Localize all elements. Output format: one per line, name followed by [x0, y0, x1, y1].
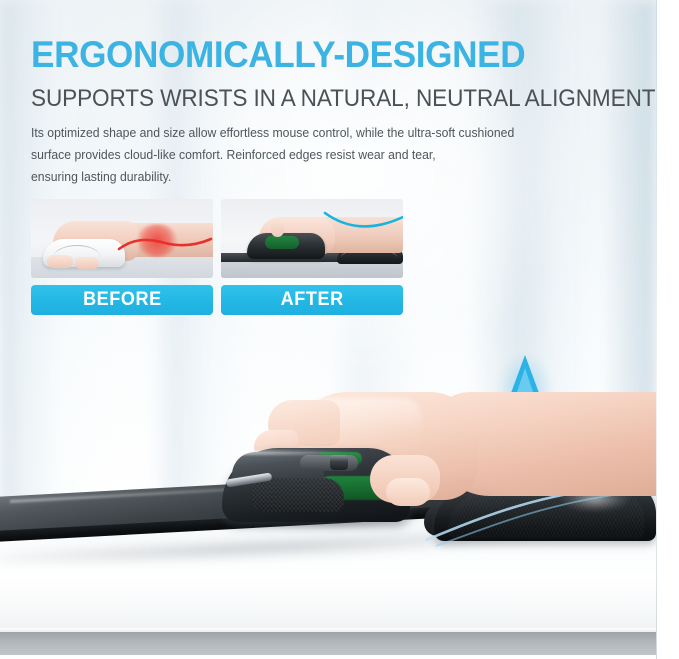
body-line-2: surface provides cloud-like comfort. Rei…	[31, 144, 574, 166]
right-white-margin	[656, 0, 679, 659]
right-border-line	[656, 0, 657, 659]
after-label-bar: AFTER	[221, 285, 403, 315]
arrow-inner-highlight	[517, 368, 533, 392]
page-subtitle: SUPPORTS WRISTS IN A NATURAL, NEUTRAL AL…	[31, 84, 655, 113]
after-thumbnail	[221, 199, 403, 278]
product-feature-poster: ERGONOMICALLY-DESIGNED SUPPORTS WRISTS I…	[0, 0, 679, 659]
before-thumbnail	[31, 199, 213, 278]
mouse-grip-texture	[252, 478, 344, 512]
body-line-3: ensuring lasting durability.	[31, 166, 574, 188]
after-label: AFTER	[280, 289, 343, 311]
comparison-panel-after: AFTER	[221, 199, 403, 315]
before-strain-line-svg	[31, 199, 213, 278]
page-title: ERGONOMICALLY-DESIGNED	[31, 33, 525, 77]
mouse-edge-highlight	[236, 450, 356, 455]
before-after-comparison: BEFORE AFTER	[31, 199, 403, 315]
mouse-button-divider	[300, 455, 358, 471]
comparison-panel-before: BEFORE	[31, 199, 213, 315]
desk-front-edge	[0, 632, 656, 655]
after-alignment-curve-svg	[221, 199, 403, 278]
body-line-1: Its optimized shape and size allow effor…	[31, 122, 574, 144]
before-label: BEFORE	[83, 289, 162, 311]
body-paragraph: Its optimized shape and size allow effor…	[31, 122, 574, 188]
finger-tip	[386, 478, 430, 506]
mouse-scroll-wheel	[330, 455, 348, 470]
before-label-bar: BEFORE	[31, 285, 213, 315]
